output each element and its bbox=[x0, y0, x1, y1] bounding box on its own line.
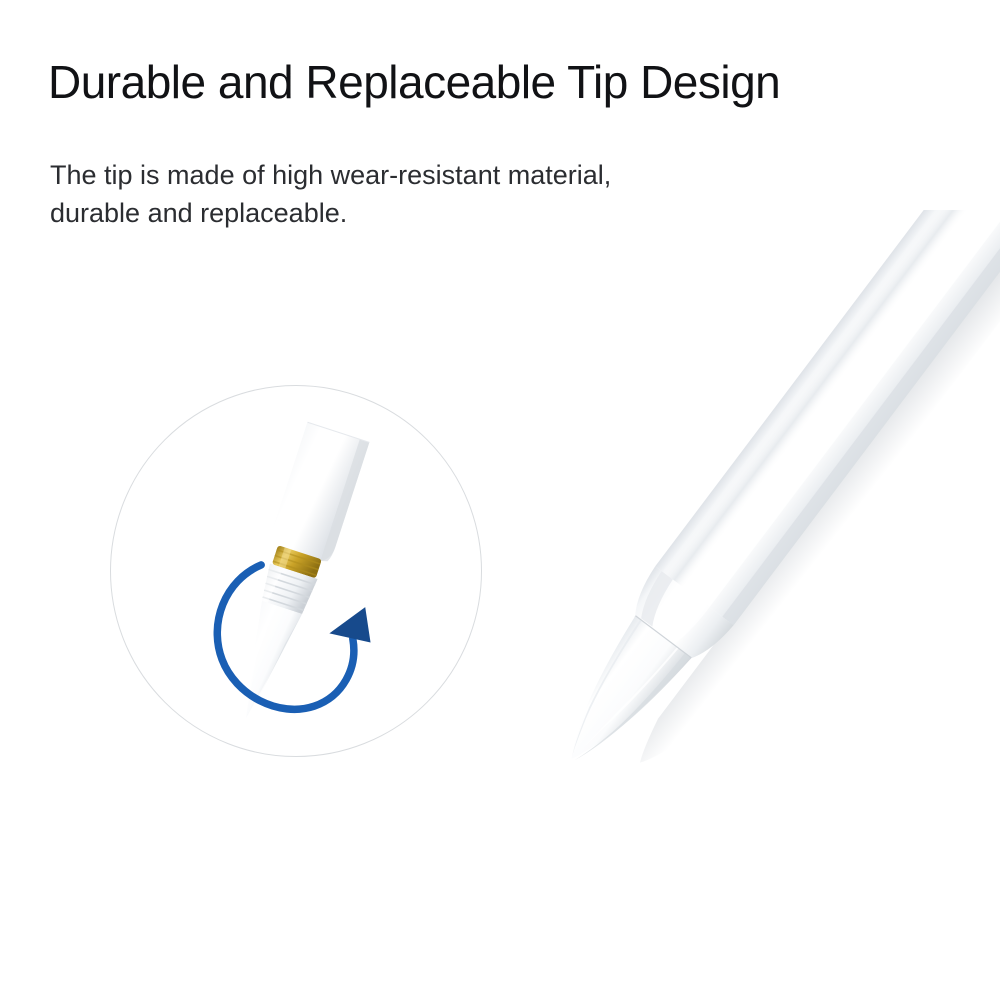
page-title: Durable and Replaceable Tip Design bbox=[48, 58, 968, 106]
tip-replacement-detail-circle bbox=[110, 385, 482, 757]
stylus-lower-barrel bbox=[268, 422, 369, 564]
subtitle-line-1: The tip is made of high wear-resistant m… bbox=[50, 156, 810, 194]
white-stylus-pen-main-photo bbox=[430, 210, 1000, 970]
pen-barrel bbox=[655, 210, 1000, 625]
product-feature-page: Durable and Replaceable Tip Design The t… bbox=[0, 0, 1000, 1000]
